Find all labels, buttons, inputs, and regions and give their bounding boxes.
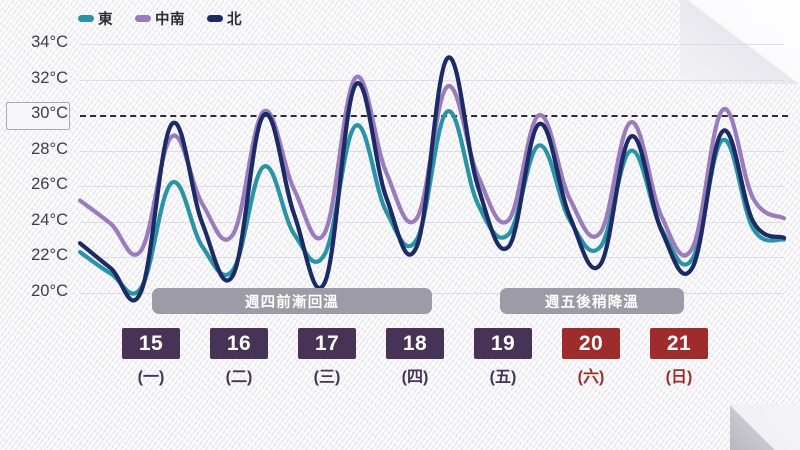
date-cell-15: 15(一)	[120, 328, 182, 387]
date-weekday-label: (一)	[120, 363, 182, 387]
date-cell-16: 16(二)	[208, 328, 270, 387]
date-badge: 17	[298, 328, 356, 359]
date-badge: 18	[386, 328, 444, 359]
date-axis: 15(一)16(二)17(三)18(四)19(五)20(六)21(日)	[0, 328, 800, 398]
annotation-warming: 週四前漸回溫	[152, 288, 432, 314]
date-weekday-label: (五)	[472, 363, 534, 387]
date-cell-19: 19(五)	[472, 328, 534, 387]
date-badge: 20	[562, 328, 620, 359]
date-badge: 15	[122, 328, 180, 359]
date-cell-21: 21(日)	[648, 328, 710, 387]
date-badge: 21	[650, 328, 708, 359]
date-badge: 19	[474, 328, 532, 359]
legend-swatch-icon	[207, 15, 223, 22]
legend-central-south: 中南	[135, 8, 185, 29]
legend-north: 北	[207, 8, 242, 29]
date-weekday-label: (三)	[296, 363, 358, 387]
date-cell-18: 18(四)	[384, 328, 446, 387]
date-badge: 16	[210, 328, 268, 359]
legend-label: 中南	[155, 8, 185, 29]
chart-legend: 東中南北	[78, 8, 242, 29]
date-cell-20: 20(六)	[560, 328, 622, 387]
date-weekday-label: (日)	[648, 363, 710, 387]
date-cell-17: 17(三)	[296, 328, 358, 387]
legend-label: 北	[227, 8, 242, 29]
annotation-cooling: 週五後稍降溫	[500, 288, 684, 314]
legend-swatch-icon	[78, 15, 94, 22]
legend-swatch-icon	[135, 15, 151, 22]
legend-label: 東	[98, 8, 113, 29]
date-weekday-label: (二)	[208, 363, 270, 387]
legend-east: 東	[78, 8, 113, 29]
date-weekday-label: (四)	[384, 363, 446, 387]
date-weekday-label: (六)	[560, 363, 622, 387]
